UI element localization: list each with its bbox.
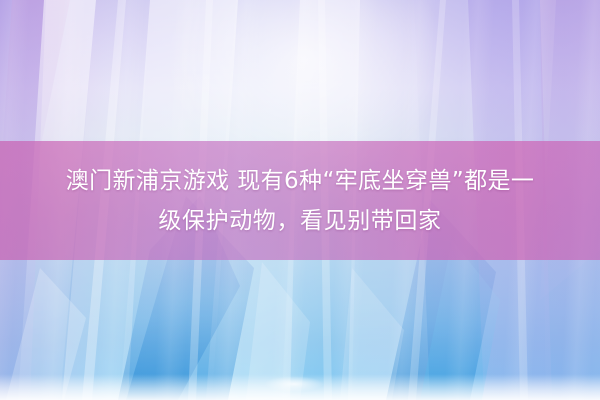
headline-band: 澳门新浦京游戏 现有6种“牢底坐穿兽”都是一 级保护动物，看见别带回家 <box>0 141 600 260</box>
headline-line-1: 澳门新浦京游戏 现有6种“牢底坐穿兽”都是一 <box>66 161 535 201</box>
promo-banner: 澳门新浦京游戏 现有6种“牢底坐穿兽”都是一 级保护动物，看见别带回家 <box>0 0 600 400</box>
headline-line-2: 级保护动物，看见别带回家 <box>158 201 441 241</box>
